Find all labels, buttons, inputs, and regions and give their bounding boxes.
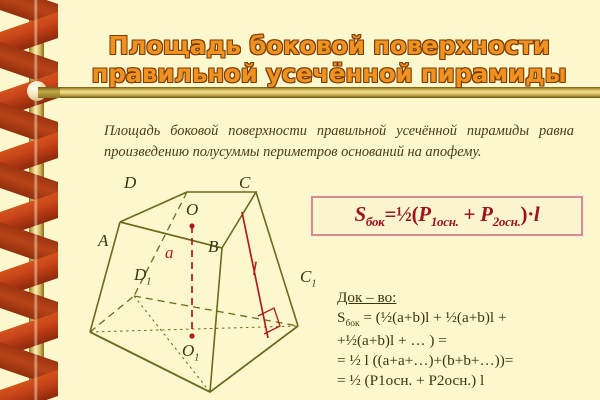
title-line-2: правильной усечённой пирамиды — [92, 60, 567, 89]
label-C1: C1 — [300, 268, 316, 290]
formula-p1: P — [418, 202, 431, 226]
label-D1: D1 — [134, 266, 151, 288]
proof-line-1-rhs: = (½(a+b)l + ½(a+b)l + — [360, 309, 507, 326]
slide-canvas: Площадь боковой поверхности правильной у… — [0, 0, 600, 400]
point-O1 — [189, 333, 194, 338]
label-C: C — [239, 174, 250, 191]
lateral-edge-B-B1 — [210, 248, 222, 392]
formula-plus-sign: + — [464, 202, 476, 226]
formula-box: Sбок=½(P1осн. + P2осн.)·l — [311, 196, 583, 236]
edge-A1-D1-hidden — [90, 296, 134, 332]
edge-B1-C1 — [210, 326, 298, 392]
label-O1: O1 — [182, 342, 199, 364]
lateral-area-formula: Sбок=½(P1осн. + P2осн.)·l — [355, 202, 540, 230]
proof-heading: Док – во: — [337, 288, 599, 308]
point-O — [189, 223, 194, 228]
formula-p1-sub: 1осн. — [431, 214, 459, 229]
formula-apothem: l — [534, 202, 540, 226]
label-A: A — [98, 232, 108, 249]
label-B: B — [208, 238, 218, 255]
formula-p2-sub: 2осн. — [493, 214, 521, 229]
gold-divider-stub — [38, 87, 60, 98]
proof-line-1: Sбок = (½(a+b)l + ½(a+b)l + — [337, 308, 599, 331]
proof-line-3: = ½ l ((a+a+…)+(b+b+…))= — [337, 351, 599, 371]
formula-s-sub: бок — [366, 214, 385, 229]
proof-block: Док – во: Sбок = (½(a+b)l + ½(a+b)l + +½… — [337, 288, 599, 391]
truncated-pyramid-figure: D C O A B a l D1 C1 O1 — [88, 176, 340, 400]
spiral-ribbon-border — [0, 0, 58, 400]
proof-line-2: +½(a+b)l + … ) = — [337, 331, 599, 351]
label-D: D — [124, 174, 136, 191]
proof-s-sub: бок — [345, 319, 359, 329]
label-O: O — [186, 201, 198, 218]
title-line-1: Площадь боковой поверхности — [108, 32, 550, 61]
label-l-apothem: l — [252, 260, 257, 279]
proof-line-4: = ½ (P1осн. + P2осн.) l — [337, 371, 599, 391]
label-a-edge: a — [165, 244, 174, 261]
formula-equals: = — [384, 202, 396, 226]
edge-A-D — [120, 192, 187, 222]
formula-p2: P — [480, 202, 493, 226]
page-title: Площадь боковой поверхности правильной у… — [60, 18, 598, 102]
formula-half: ½ — [396, 202, 411, 226]
theorem-statement: Площадь боковой поверхности правильной у… — [104, 121, 574, 162]
lateral-edge-C-C1 — [256, 192, 298, 326]
formula-s: S — [355, 202, 366, 226]
formula-dot: · — [527, 202, 534, 226]
